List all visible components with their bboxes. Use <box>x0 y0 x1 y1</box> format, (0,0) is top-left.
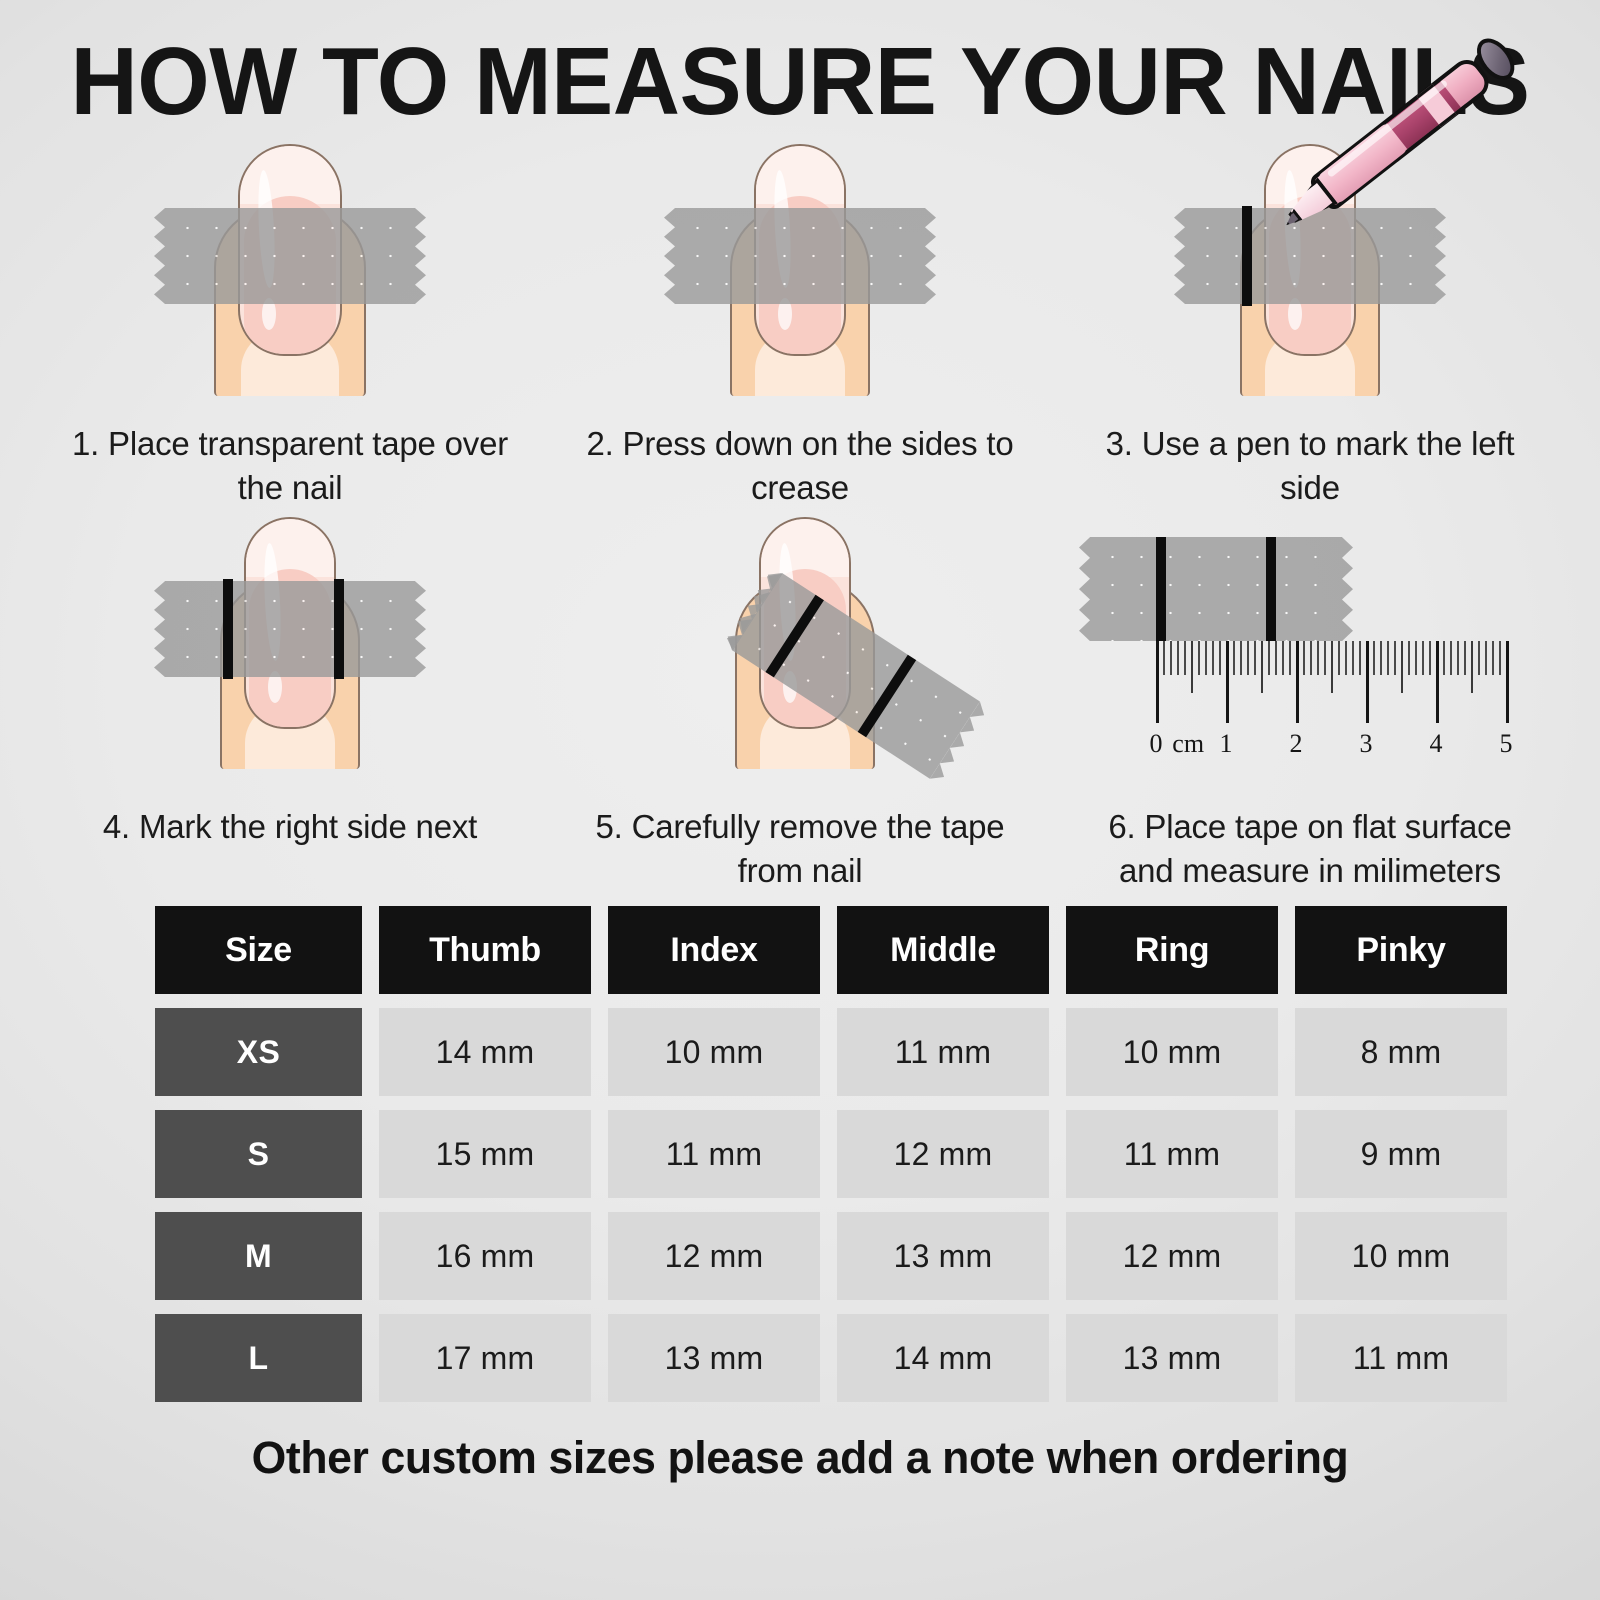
ruler-tick <box>1324 641 1326 675</box>
ruler-tick <box>1296 641 1299 723</box>
table-cell-thumb: 17 mm <box>379 1314 591 1402</box>
ruler-tick <box>1247 641 1249 675</box>
tape-strip <box>165 208 415 304</box>
ruler-label: 3 <box>1360 729 1373 759</box>
page-title: HOW TO MEASURE YOUR NAILS <box>24 0 1576 130</box>
ruler-tick <box>1226 641 1229 723</box>
ruler-assembly: 012345cm <box>1084 529 1536 777</box>
ruler-tick <box>1212 641 1214 675</box>
ruler-tick <box>1492 641 1494 675</box>
ruler-tick <box>1359 641 1361 675</box>
table-header-ring: Ring <box>1066 906 1278 994</box>
ruler-tick <box>1506 641 1509 723</box>
step-4-illustration <box>50 509 530 799</box>
ruler-tick <box>1429 641 1431 675</box>
step-6-caption: 6. Place tape on flat surface and measur… <box>1080 805 1540 892</box>
step-6-illustration: 012345cm <box>1070 509 1550 799</box>
step-1: 1. Place transparent tape over the nail <box>35 136 545 509</box>
step-5: 5. Carefully remove the tape from nail <box>545 509 1055 892</box>
ruler-tick <box>1254 641 1256 675</box>
table-header-pinky: Pinky <box>1295 906 1507 994</box>
ruler-tick <box>1457 641 1459 675</box>
table-cell-index: 13 mm <box>608 1314 820 1402</box>
ruler-tick <box>1191 641 1193 693</box>
ruler-tick <box>1415 641 1417 675</box>
table-cell-pinky: 11 mm <box>1295 1314 1507 1402</box>
ruler-tick <box>1394 641 1396 675</box>
tape-strip <box>675 208 925 304</box>
ruler-unit-label: cm <box>1172 729 1204 759</box>
ruler-tick <box>1240 641 1242 675</box>
ruler-label: 4 <box>1430 729 1443 759</box>
ruler-tick <box>1331 641 1333 693</box>
ruler-tick <box>1261 641 1263 693</box>
steps-grid: 1. Place transparent tape over the nail … <box>35 130 1565 892</box>
ruler-tick <box>1156 641 1159 723</box>
ruler-tick <box>1233 641 1235 675</box>
table-cell-thumb: 16 mm <box>379 1212 591 1300</box>
ruler-tick <box>1485 641 1487 675</box>
table-cell-index: 11 mm <box>608 1110 820 1198</box>
ruler-tick <box>1268 641 1270 675</box>
ruler-tick <box>1303 641 1305 675</box>
table-cell-middle: 13 mm <box>837 1212 1049 1300</box>
ruler-tick <box>1184 641 1186 675</box>
step-2-illustration <box>560 136 1040 416</box>
ruler-tick <box>1177 641 1179 675</box>
ruler-tick <box>1366 641 1369 723</box>
step-4-caption: 4. Mark the right side next <box>60 805 520 849</box>
table-size-label: M <box>155 1212 362 1300</box>
table-cell-pinky: 9 mm <box>1295 1110 1507 1198</box>
ruler-tick <box>1163 641 1165 675</box>
ruler-tick <box>1478 641 1480 675</box>
tape-texture <box>1185 208 1435 304</box>
step-3-illustration <box>1070 136 1550 416</box>
footer-note: Other custom sizes please add a note whe… <box>8 1432 1592 1484</box>
table-size-label: L <box>155 1314 362 1402</box>
table-cell-ring: 11 mm <box>1066 1110 1278 1198</box>
table-header-size: Size <box>155 906 362 994</box>
ruler-tick <box>1275 641 1277 675</box>
ruler-label: 0 <box>1150 729 1163 759</box>
ruler-tick <box>1408 641 1410 675</box>
table-size-label: S <box>155 1110 362 1198</box>
ruler-tick <box>1387 641 1389 675</box>
tape-texture <box>675 208 925 304</box>
tape-strip <box>1185 208 1435 304</box>
tape-texture <box>1090 537 1342 641</box>
tape-strip <box>165 581 415 677</box>
table-header-index: Index <box>608 906 820 994</box>
ruler-tick <box>1443 641 1445 675</box>
ruler-tick <box>1401 641 1403 693</box>
ruler-label: 1 <box>1220 729 1233 759</box>
ruler-tick <box>1352 641 1354 675</box>
pen-mark-left <box>1242 206 1252 306</box>
ruler-label: 5 <box>1500 729 1513 759</box>
table-cell-pinky: 10 mm <box>1295 1212 1507 1300</box>
ruler-tick <box>1373 641 1375 675</box>
table-cell-middle: 12 mm <box>837 1110 1049 1198</box>
table-cell-ring: 13 mm <box>1066 1314 1278 1402</box>
ruler-tick <box>1450 641 1452 675</box>
step-5-illustration <box>560 509 1040 799</box>
step-4: 4. Mark the right side next <box>35 509 545 892</box>
ruler-tick <box>1436 641 1439 723</box>
table-header-middle: Middle <box>837 906 1049 994</box>
ruler-tick <box>1198 641 1200 675</box>
ruler-tick <box>1345 641 1347 675</box>
table-cell-pinky: 8 mm <box>1295 1008 1507 1096</box>
table-cell-thumb: 15 mm <box>379 1110 591 1198</box>
table-cell-index: 10 mm <box>608 1008 820 1096</box>
ruler-tick <box>1282 641 1284 675</box>
tape-texture <box>165 581 415 677</box>
step-1-illustration <box>50 136 530 416</box>
tape-strip-flat <box>1090 537 1342 641</box>
step-3-caption: 3. Use a pen to mark the left side <box>1080 422 1540 509</box>
ruler-icon: 012345cm <box>1156 641 1512 773</box>
table-cell-ring: 12 mm <box>1066 1212 1278 1300</box>
ruler-tick <box>1205 641 1207 675</box>
ruler-tick <box>1310 641 1312 675</box>
step-6: 012345cm 6. Place tape on flat surface a… <box>1055 509 1565 892</box>
step-5-caption: 5. Carefully remove the tape from nail <box>570 805 1030 892</box>
table-header-thumb: Thumb <box>379 906 591 994</box>
ruler-tick <box>1338 641 1340 675</box>
ruler-tick <box>1317 641 1319 675</box>
step-3: 3. Use a pen to mark the left side <box>1055 136 1565 509</box>
ruler-tick <box>1471 641 1473 693</box>
tape-texture <box>165 208 415 304</box>
ruler-tick <box>1422 641 1424 675</box>
pen-mark-left <box>1156 537 1166 641</box>
step-2-caption: 2. Press down on the sides to crease <box>570 422 1030 509</box>
ruler-tick <box>1380 641 1382 675</box>
size-table: SizeThumbIndexMiddleRingPinkyXS14 mm10 m… <box>155 906 1445 1402</box>
ruler-tick <box>1170 641 1172 675</box>
ruler-label: 2 <box>1290 729 1303 759</box>
pen-mark-right <box>1266 537 1276 641</box>
pen-mark-right <box>334 579 344 679</box>
table-cell-index: 12 mm <box>608 1212 820 1300</box>
table-cell-thumb: 14 mm <box>379 1008 591 1096</box>
step-2: 2. Press down on the sides to crease <box>545 136 1055 509</box>
table-size-label: XS <box>155 1008 362 1096</box>
step-1-caption: 1. Place transparent tape over the nail <box>60 422 520 509</box>
ruler-tick <box>1219 641 1221 675</box>
ruler-tick <box>1464 641 1466 675</box>
pen-mark-left <box>223 579 233 679</box>
table-cell-ring: 10 mm <box>1066 1008 1278 1096</box>
table-cell-middle: 14 mm <box>837 1314 1049 1402</box>
ruler-tick <box>1499 641 1501 675</box>
table-cell-middle: 11 mm <box>837 1008 1049 1096</box>
ruler-tick <box>1289 641 1291 675</box>
